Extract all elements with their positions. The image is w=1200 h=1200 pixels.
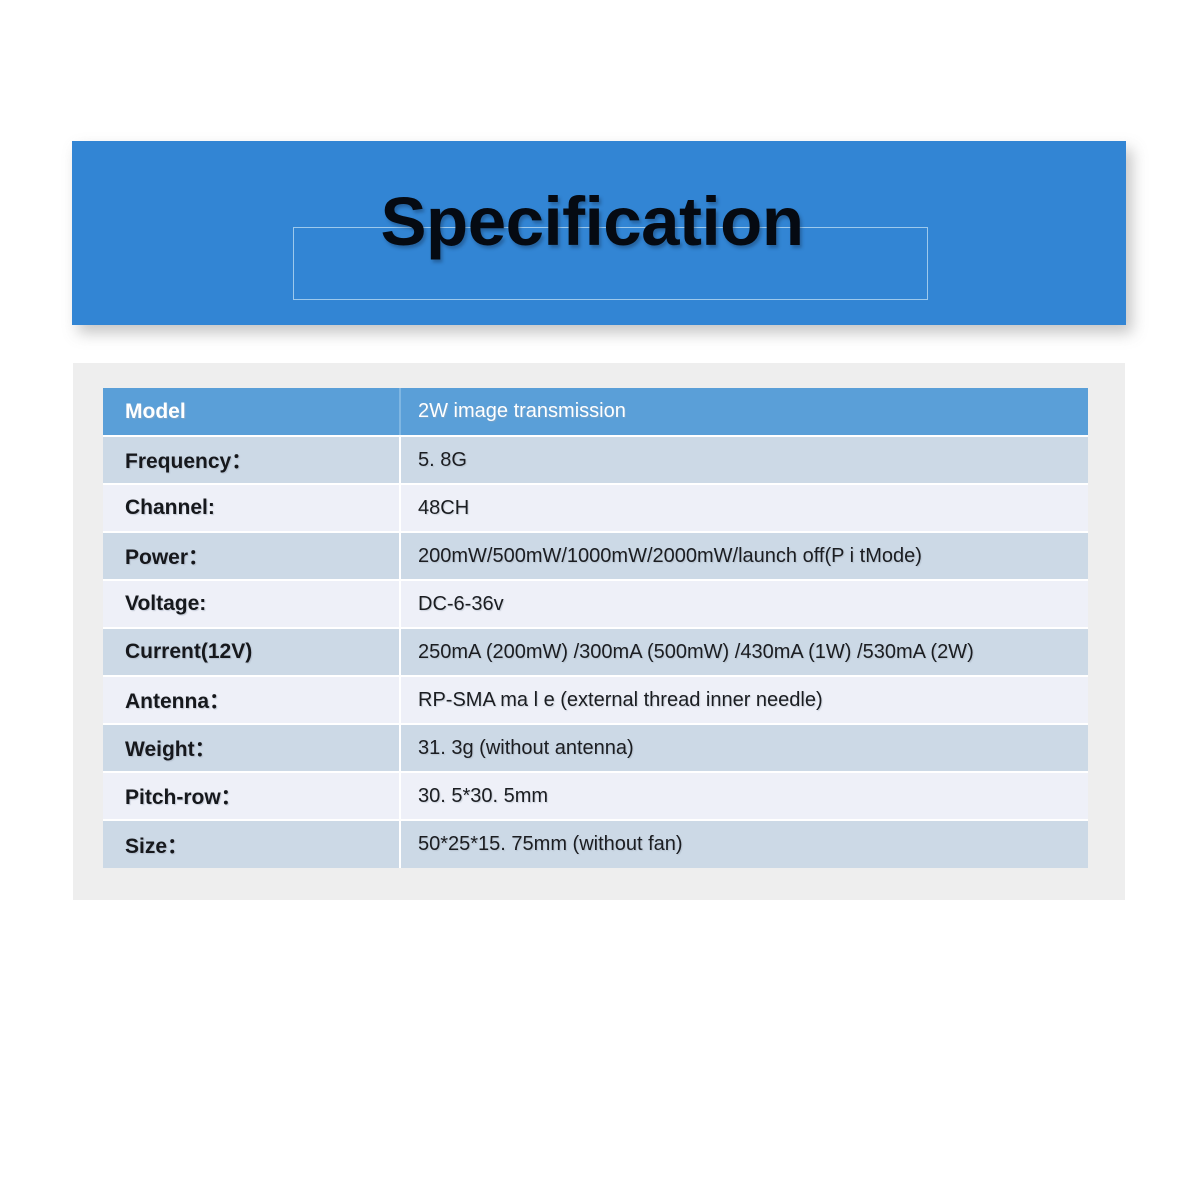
row-label-pitch-row: Pitch-row： xyxy=(103,772,400,820)
table-row: Antenna： RP-SMA ma l e (external thread … xyxy=(103,676,1088,724)
table-row: Frequency： 5. 8G xyxy=(103,436,1088,484)
row-value-current: 250mA (200mW) /300mA (500mW) /430mA (1W)… xyxy=(400,628,1088,676)
row-value-weight: 31. 3g (without antenna) xyxy=(400,724,1088,772)
table-row: Size： 50*25*15. 75mm (without fan) xyxy=(103,820,1088,868)
page-title: Specification xyxy=(381,187,804,256)
table-row: Power： 200mW/500mW/1000mW/2000mW/launch … xyxy=(103,532,1088,580)
row-value-power: 200mW/500mW/1000mW/2000mW/launch off(P i… xyxy=(400,532,1088,580)
row-label-current: Current(12V) xyxy=(103,628,400,676)
specification-banner: Specification xyxy=(72,141,1126,325)
table-header-label: Model xyxy=(103,388,400,436)
row-label-voltage: Voltage: xyxy=(103,580,400,628)
row-value-frequency: 5. 8G xyxy=(400,436,1088,484)
table-header-row: Model 2W image transmission xyxy=(103,388,1088,436)
row-value-channel: 48CH xyxy=(400,484,1088,532)
row-label-frequency: Frequency： xyxy=(103,436,400,484)
row-value-pitch-row: 30. 5*30. 5mm xyxy=(400,772,1088,820)
specification-table: Model 2W image transmission Frequency： 5… xyxy=(103,388,1088,868)
banner-title-wrap: Specification xyxy=(72,141,1126,325)
specification-page: Specification Model 2W image transmissio… xyxy=(0,0,1200,1200)
table-header-value: 2W image transmission xyxy=(400,388,1088,436)
row-label-channel: Channel: xyxy=(103,484,400,532)
row-value-voltage: DC-6-36v xyxy=(400,580,1088,628)
row-label-power: Power： xyxy=(103,532,400,580)
row-label-weight: Weight： xyxy=(103,724,400,772)
row-label-size: Size： xyxy=(103,820,400,868)
row-value-antenna: RP-SMA ma l e (external thread inner nee… xyxy=(400,676,1088,724)
row-label-antenna: Antenna： xyxy=(103,676,400,724)
row-value-size: 50*25*15. 75mm (without fan) xyxy=(400,820,1088,868)
table-row: Weight： 31. 3g (without antenna) xyxy=(103,724,1088,772)
table-row: Voltage: DC-6-36v xyxy=(103,580,1088,628)
specification-panel: Model 2W image transmission Frequency： 5… xyxy=(73,363,1125,900)
table-row: Current(12V) 250mA (200mW) /300mA (500mW… xyxy=(103,628,1088,676)
table-row: Channel: 48CH xyxy=(103,484,1088,532)
table-row: Pitch-row： 30. 5*30. 5mm xyxy=(103,772,1088,820)
